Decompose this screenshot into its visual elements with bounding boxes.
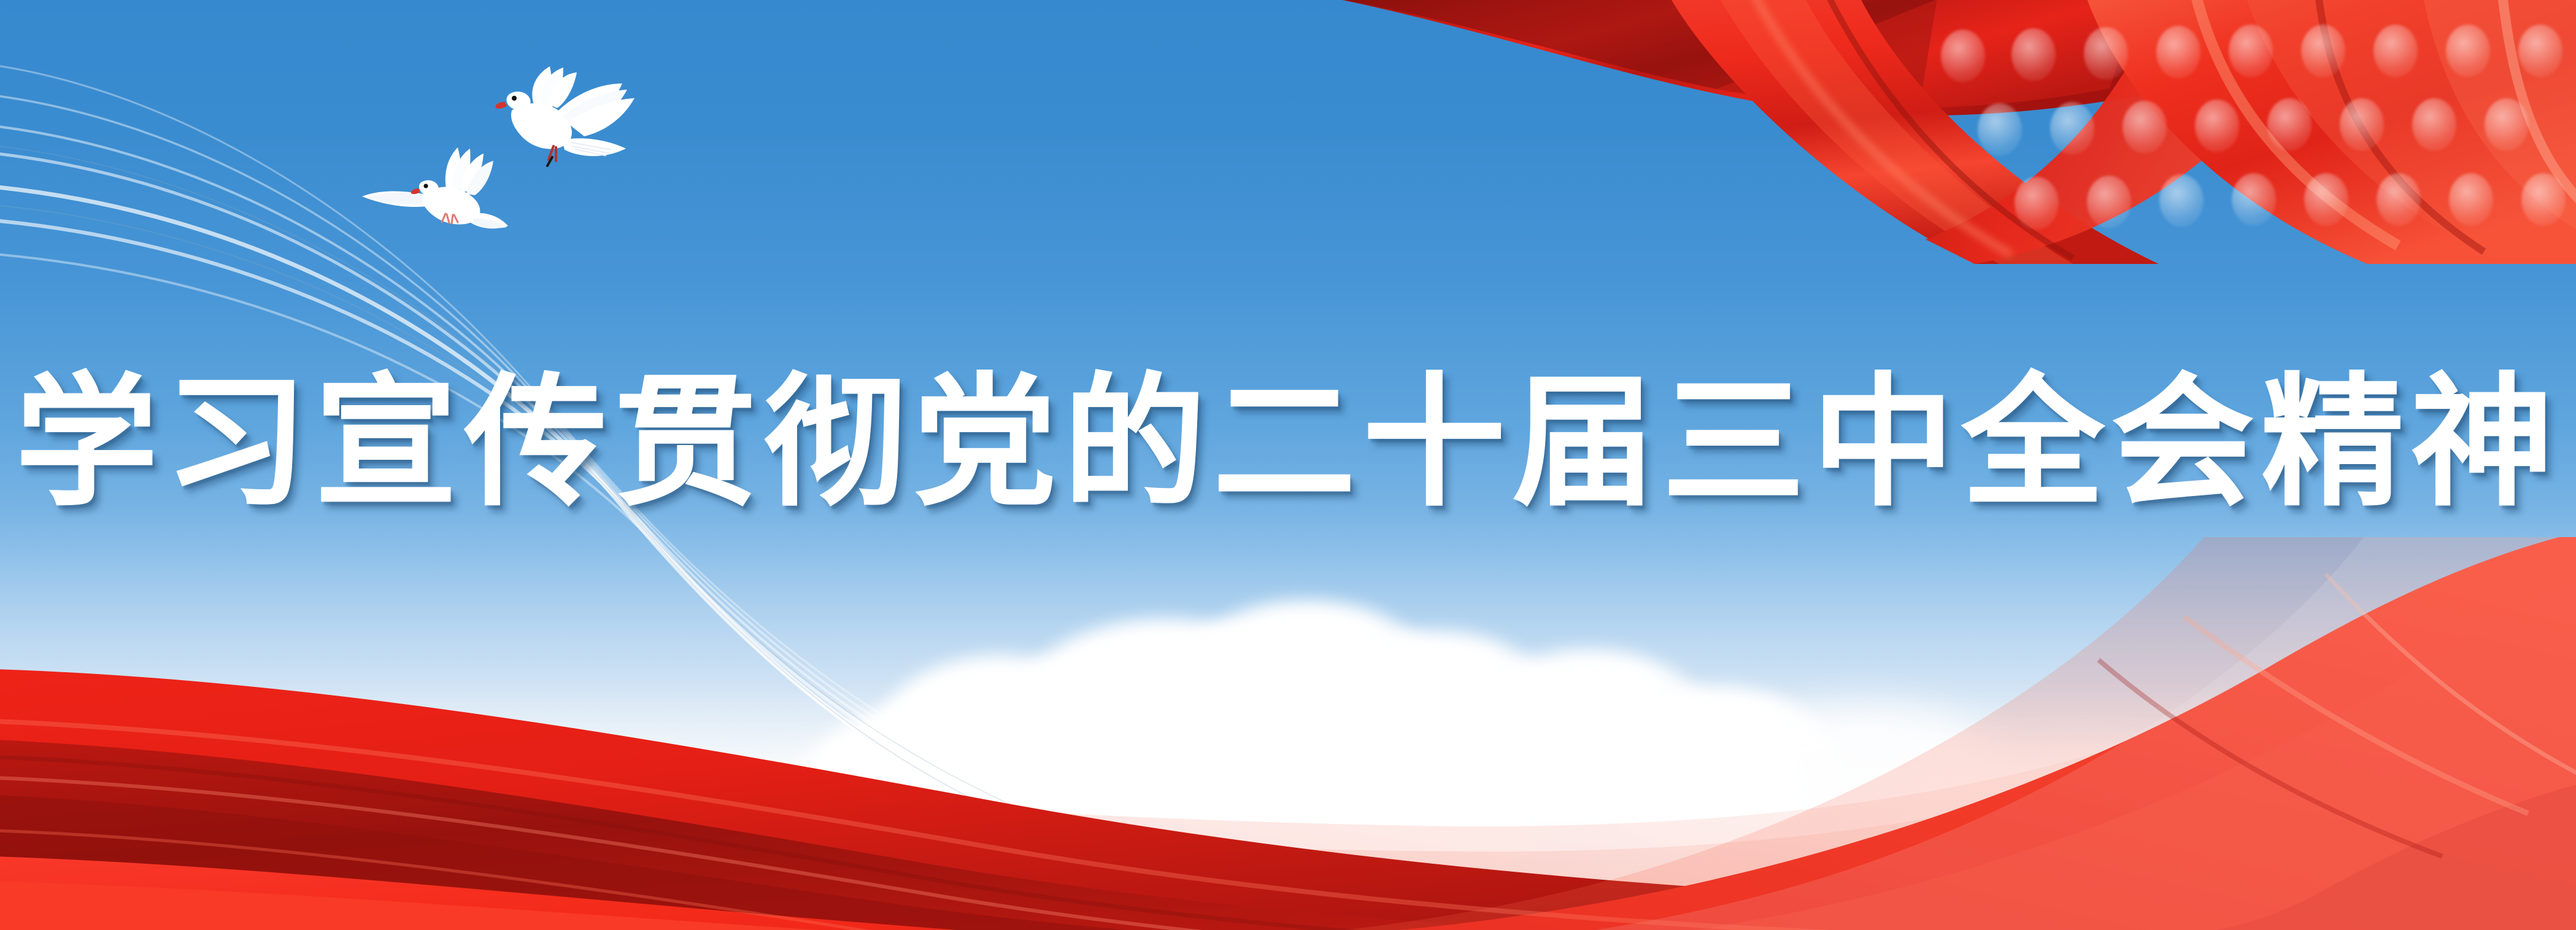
page-title: 学习宣传贯彻党的二十届三中全会精神 <box>0 373 2576 516</box>
banner-root: 学习宣传贯彻党的二十届三中全会精神 <box>0 0 2576 930</box>
dove-right-icon <box>485 68 669 184</box>
bokeh-dots <box>1809 0 2576 264</box>
red-silk-waves <box>0 537 2576 930</box>
